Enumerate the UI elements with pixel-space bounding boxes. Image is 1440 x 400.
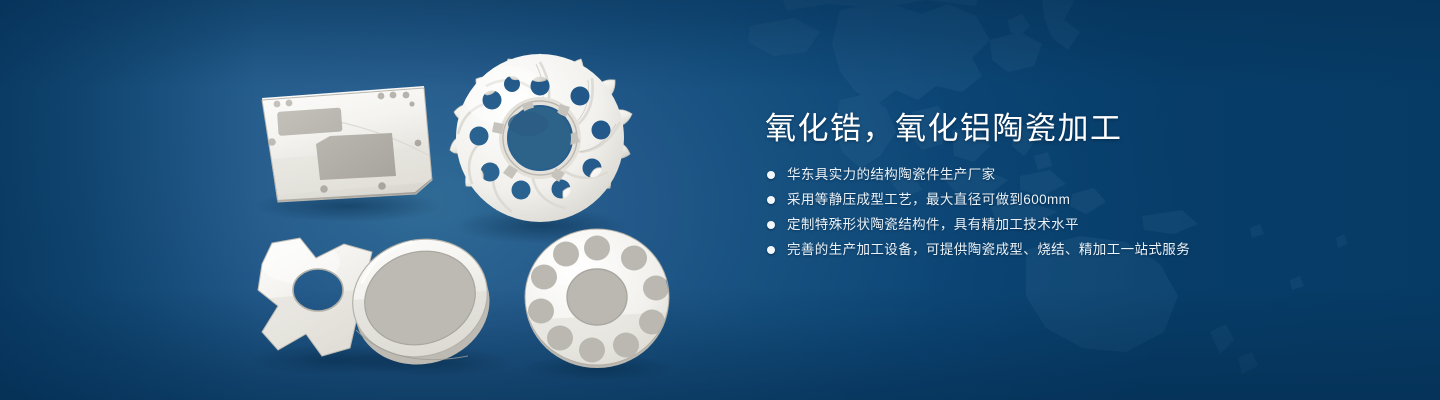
list-item: 定制特殊形状陶瓷结构件，具有精加工技术水平: [765, 216, 1385, 234]
feature-text: 采用等静压成型工艺，最大直径可做到600mm: [787, 192, 1070, 207]
list-item: 完善的生产加工设备，可提供陶瓷成型、烧结、精加工一站式服务: [765, 241, 1385, 259]
feature-text: 定制特殊形状陶瓷结构件，具有精加工技术水平: [787, 217, 1079, 232]
bullet-dot-icon: [767, 246, 775, 254]
promo-banner: 氧化锆，氧化铝陶瓷加工 华东具实力的结构陶瓷件生产厂家 采用等静压成型工艺，最大…: [0, 0, 1440, 400]
feature-text: 完善的生产加工设备，可提供陶瓷成型、烧结、精加工一站式服务: [787, 242, 1190, 257]
ceramic-parts-photo: [0, 0, 740, 400]
ceramic-perforated-disc: [520, 225, 680, 373]
list-item: 采用等静压成型工艺，最大直径可做到600mm: [765, 191, 1385, 209]
ceramic-impeller-disc: [450, 52, 632, 224]
bullet-dot-icon: [767, 221, 775, 229]
bullet-dot-icon: [767, 196, 775, 204]
bullet-dot-icon: [767, 171, 775, 179]
page-title: 氧化锆，氧化铝陶瓷加工: [765, 108, 1385, 150]
feature-text: 华东具实力的结构陶瓷件生产厂家: [787, 167, 996, 182]
ceramic-machined-plate: [250, 80, 450, 212]
banner-copy: 氧化锆，氧化铝陶瓷加工 华东具实力的结构陶瓷件生产厂家 采用等静压成型工艺，最大…: [765, 108, 1385, 266]
feature-list: 华东具实力的结构陶瓷件生产厂家 采用等静压成型工艺，最大直径可做到600mm 定…: [765, 166, 1385, 259]
ceramic-ring: [339, 224, 510, 381]
list-item: 华东具实力的结构陶瓷件生产厂家: [765, 166, 1385, 184]
